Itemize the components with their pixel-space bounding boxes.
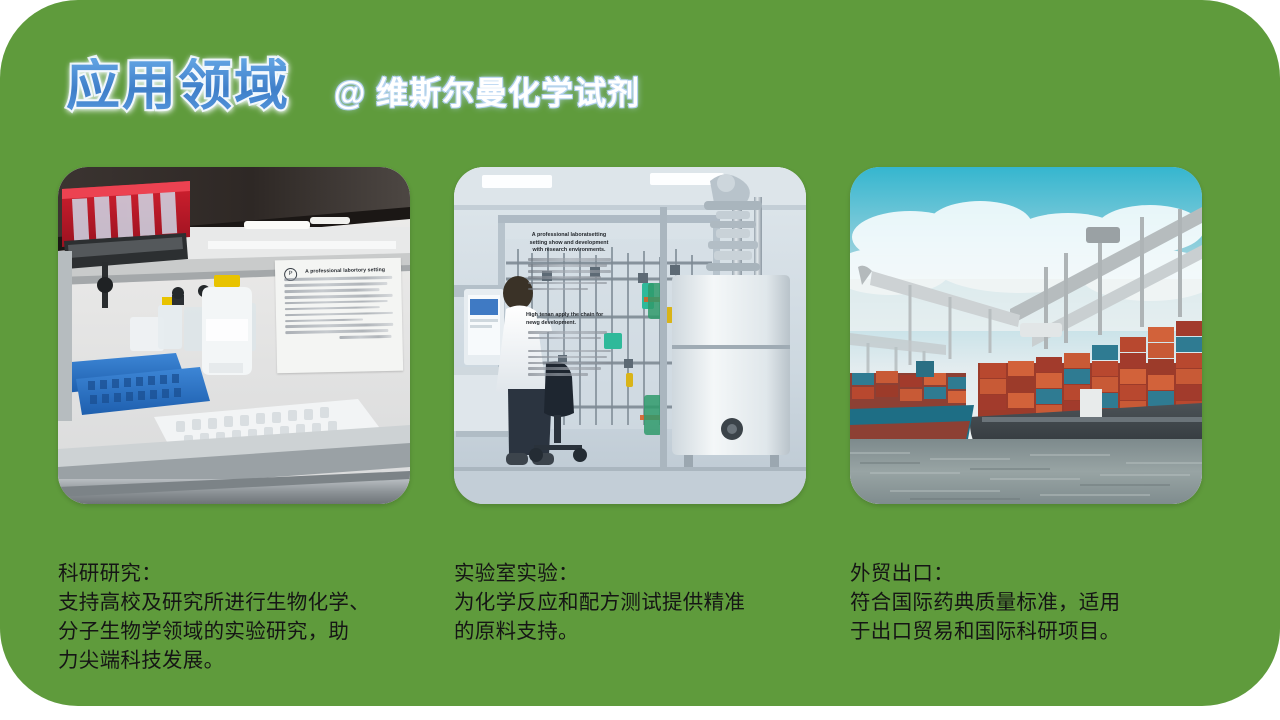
caption-heading: 实验室实验：	[454, 559, 806, 588]
caption-body: 符合国际药典质量标准，适用 于出口贸易和国际科研项目。	[850, 590, 1120, 643]
pilot-plant-illustration	[454, 167, 806, 504]
header: 应用领域 @ 维斯尔曼化学试剂	[66, 58, 640, 115]
brand-subtitle: @ 维斯尔曼化学试剂	[334, 76, 640, 111]
card-caption-export: 外贸出口：符合国际药典质量标准，适用 于出口贸易和国际科研项目。	[850, 530, 1202, 646]
caption-heading: 科研研究：	[58, 559, 410, 588]
slide-root: 应用领域 应用领域 @ 维斯尔曼化学试剂	[0, 0, 1280, 720]
photo-pilot-plant: A professional laboratsetting setting sh…	[454, 167, 806, 504]
card-caption-laboratory: 实验室实验：为化学反应和配方测试提供精准 的原料支持。	[454, 530, 806, 646]
photo-laboratory-bench: P A professional labortory setting	[58, 167, 410, 504]
caption-heading: 外贸出口：	[850, 559, 1202, 588]
card-caption-research: 科研研究：支持高校及研究所进行生物化学、 分子生物学领域的实验研究，助 力尖端科…	[58, 530, 410, 676]
caption-body: 支持高校及研究所进行生物化学、 分子生物学领域的实验研究，助 力尖端科技发展。	[58, 590, 370, 672]
page-title: 应用领域	[66, 58, 290, 115]
card-export: 外贸出口：符合国际药典质量标准，适用 于出口贸易和国际科研项目。	[850, 167, 1202, 676]
caption-body: 为化学反应和配方测试提供精准 的原料支持。	[454, 590, 745, 643]
card-research: P A professional labortory setting	[58, 167, 410, 676]
photo-container-port	[850, 167, 1202, 504]
application-cards: P A professional labortory setting	[58, 167, 1198, 676]
card-laboratory: A professional laboratsetting setting sh…	[454, 167, 806, 676]
green-background-panel: 应用领域 应用领域 @ 维斯尔曼化学试剂	[0, 0, 1280, 706]
lab-bench-illustration	[58, 167, 410, 504]
container-port-illustration	[850, 167, 1202, 504]
